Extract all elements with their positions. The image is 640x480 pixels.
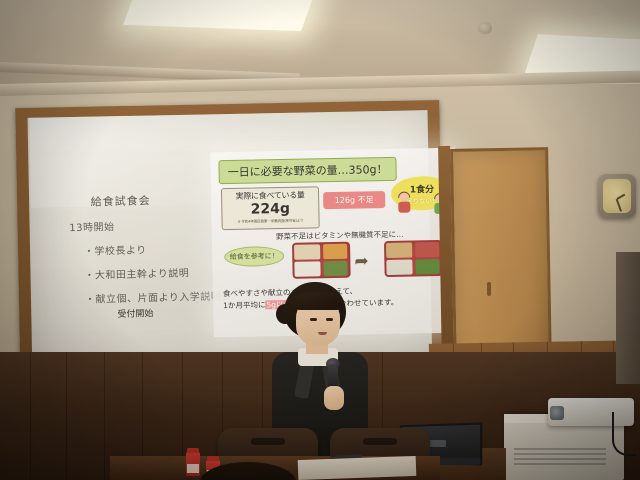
cartoon-child-icon-left [397,193,411,213]
laptop-logo [428,440,446,447]
slide-green-bubble: 給食を参考に！ [224,246,284,267]
slide-actual-value: 224g [222,201,318,217]
curved-arrow-icon: ➦ [354,252,378,270]
cabinet-edge [616,252,640,384]
slide-banner: 一日に必要な野菜の量…350g！ [218,157,396,184]
ceiling-sprinkler-icon [478,22,492,34]
presenter-fringe [294,292,342,310]
slide-footer-pre: 1か月平均に [223,300,265,310]
clock-face [603,179,631,213]
seasoning-shaker-1[interactable] [186,452,200,476]
slide-deficit-badge: 126g 不足 [323,191,385,209]
slide-actual-intake-box: 実際に食べている量 224g ※ 令和4年国民健康・栄養調査(厚労省)より [221,186,320,230]
slide-bubble-line1: 1食分 [410,182,435,195]
presenter-hand [324,386,344,410]
photo-scene: 給食試食会 13時開始 ・学校長より ・大和田主幹より説明 ・献立個、片面より入… [0,0,640,480]
handout-papers [298,456,417,480]
projector-lens-icon [550,406,564,420]
lunch-tray-photo-left [292,242,351,279]
projector-cable [612,412,636,456]
door-handle[interactable] [487,282,491,296]
lunch-tray-photo-right [384,240,443,277]
slide-actual-source: ※ 令和4年国民健康・栄養調査(厚労省)より [223,218,319,225]
presenter-eye-right [326,318,333,321]
presenter-eye-left [310,318,317,321]
sliding-door[interactable] [450,147,552,367]
